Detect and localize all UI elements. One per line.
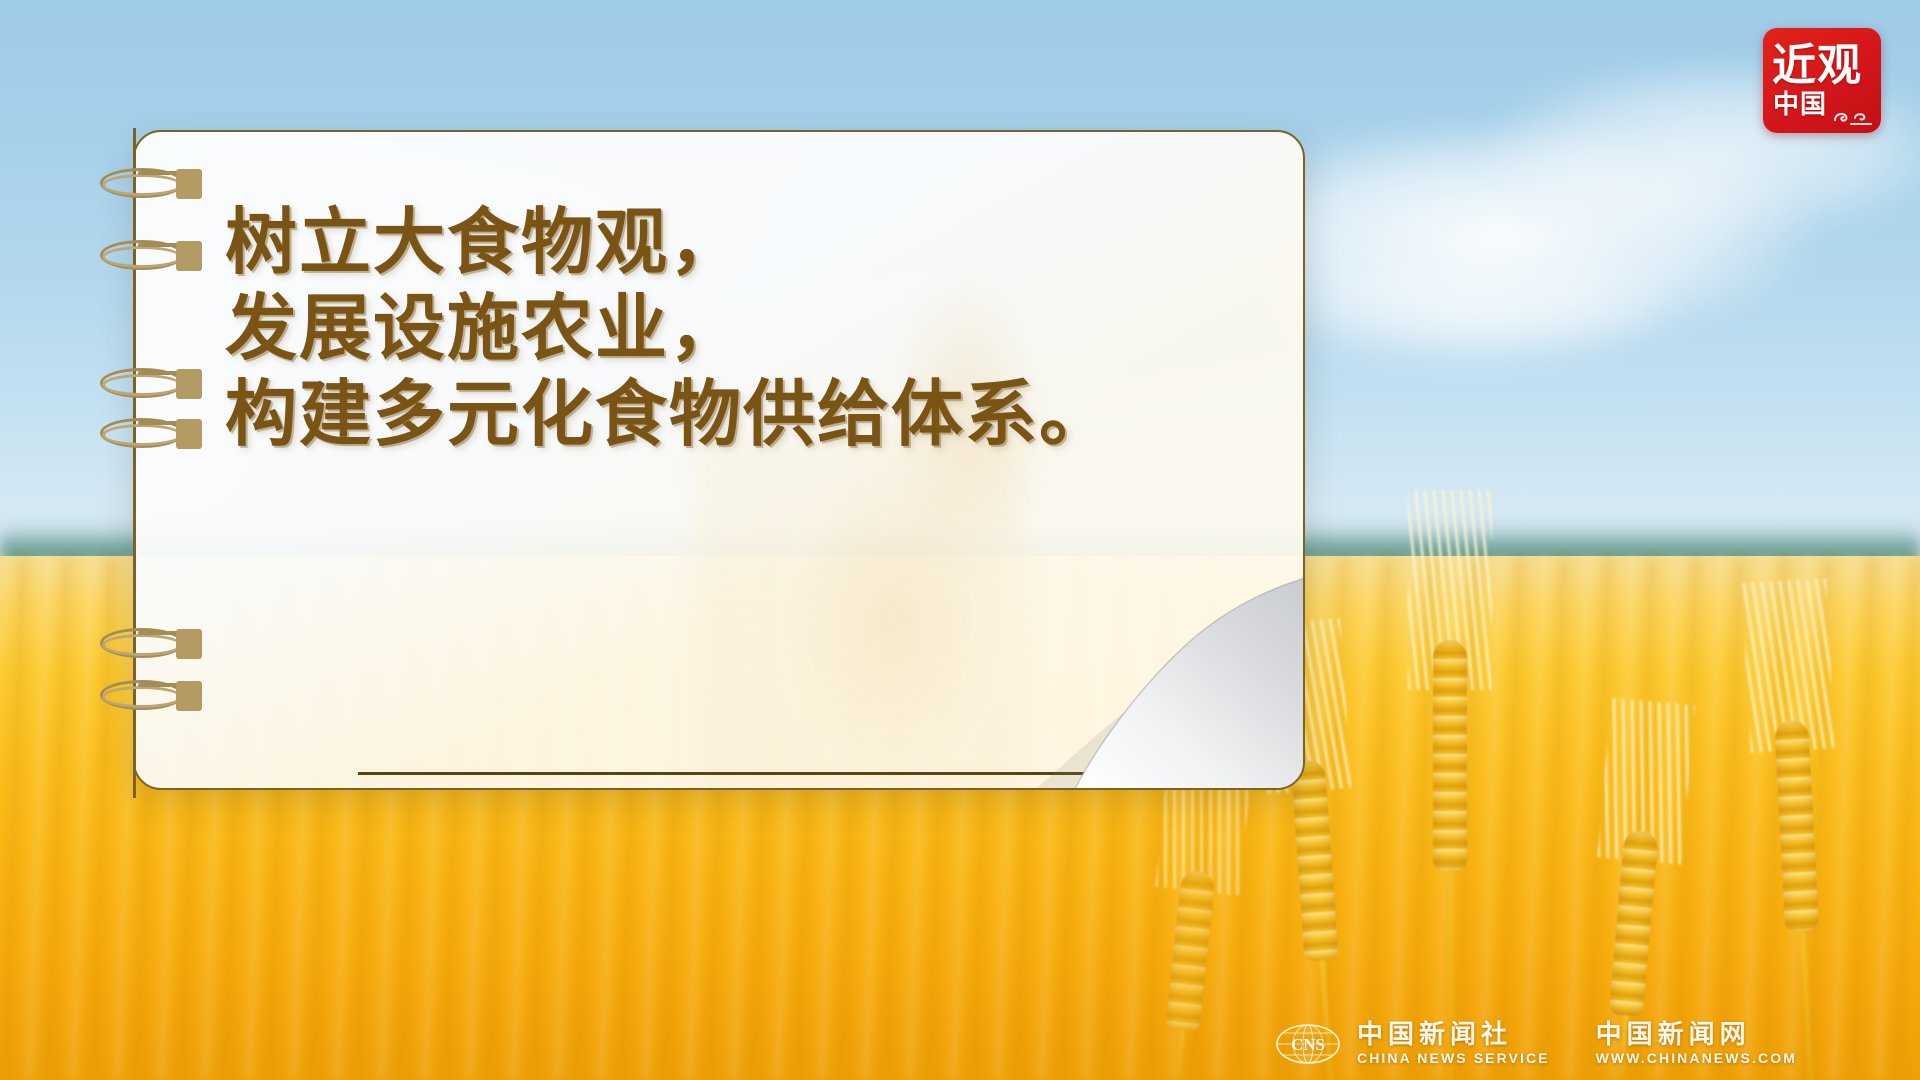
binding-ring	[100, 628, 210, 662]
spiral-binding	[100, 128, 220, 798]
wheat-ear	[1430, 520, 1470, 1080]
quote-line-1: 树立大食物观，	[225, 200, 1243, 286]
channel-logo[interactable]: 近观 中国	[1763, 28, 1881, 133]
agency-name-cn: 中国新闻社	[1357, 1021, 1550, 1049]
binding-ring	[100, 240, 210, 274]
site-block: 中国新闻网 WWW.CHINANEWS.COM	[1596, 1021, 1797, 1067]
cloud-swirl-icon	[1831, 103, 1875, 127]
svg-text:CNS: CNS	[1291, 1035, 1325, 1054]
cns-globe-icon: CNS	[1275, 1023, 1341, 1065]
logo-top-text: 近观	[1772, 37, 1872, 95]
quote-block: 树立大食物观， 发展设施农业， 构建多元化食物供给体系。	[225, 200, 1243, 458]
watermark: CNS 中国新闻社 CHINA NEWS SERVICE 中国新闻网 WWW.C…	[1275, 1016, 1905, 1072]
cloud	[1260, 250, 1680, 370]
binding-ring	[100, 168, 210, 202]
divider	[358, 772, 1143, 775]
quote-card: 树立大食物观， 发展设施农业， 构建多元化食物供给体系。 习近平 在中国共产党第…	[133, 130, 1305, 790]
card-translucency	[695, 432, 1025, 790]
page-curl-icon	[1035, 575, 1305, 790]
quote-line-2: 发展设施农业，	[225, 286, 1243, 372]
binding-ring	[100, 418, 210, 452]
site-url-en: WWW.CHINANEWS.COM	[1596, 1049, 1797, 1067]
quote-line-3: 构建多元化食物供给体系。	[225, 372, 1243, 458]
binding-ring	[100, 680, 210, 714]
agency-block: 中国新闻社 CHINA NEWS SERVICE	[1357, 1021, 1550, 1067]
agency-name-en: CHINA NEWS SERVICE	[1357, 1049, 1550, 1067]
binding-ring	[100, 368, 210, 402]
site-name-cn: 中国新闻网	[1596, 1021, 1797, 1049]
